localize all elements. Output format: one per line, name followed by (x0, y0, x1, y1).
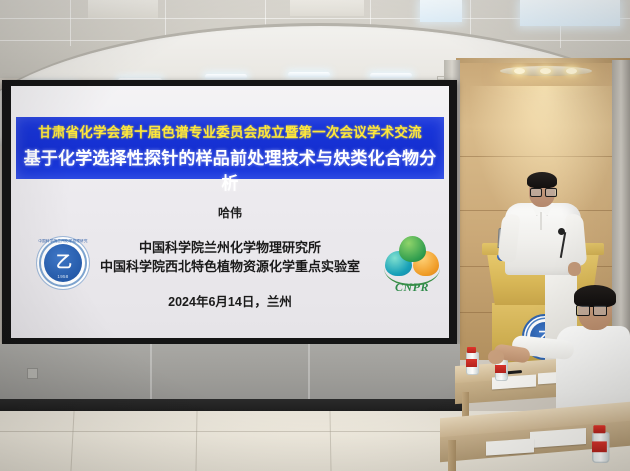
emblem-glyph: 乙 (56, 254, 72, 272)
attendee-hand (488, 350, 504, 364)
slide-title-line2: 基于化学选择性探针的样品前处理技术与炔类化合物分析 (16, 144, 444, 194)
presenter-shirt-placket (540, 212, 542, 230)
attendee-hair (574, 285, 616, 307)
slide-speaker-name: 哈伟 (11, 204, 449, 221)
emblem-year: 1958 (44, 274, 82, 279)
lower-wall-panel (0, 344, 460, 400)
presenter-hair (527, 172, 557, 188)
recessed-light-strip (500, 66, 592, 76)
cnpr-logo-text: CNPR (383, 280, 441, 295)
wall-trim (456, 58, 630, 63)
soffit-downlight (288, 72, 330, 77)
bottle-body (592, 432, 610, 463)
emblem-inner-disc: 乙 1958 (44, 244, 82, 282)
slide-title-line1: 甘肃省化学会第十届色谱专业委员会成立暨第一次会议学术交流 (16, 121, 444, 141)
wall-outlet (27, 368, 38, 379)
water-bottle (466, 352, 477, 375)
ceiling-tile (290, 0, 364, 16)
table-leg (448, 440, 456, 471)
bottle-label (495, 365, 506, 373)
ceiling-light (420, 0, 462, 22)
soffit-downlight (370, 73, 412, 78)
slide-title-band: 甘肃省化学会第十届色谱专业委员会成立暨第一次会议学术交流 基于化学选择性探针的样… (16, 117, 444, 179)
presenter-glasses-icon (530, 188, 555, 195)
presenter-hand (568, 262, 581, 276)
conference-photo-scene: 甘肃省化学会第十届色谱专业委员会成立暨第一次会议学术交流 基于化学选择性探针的样… (0, 0, 630, 471)
wall-column-right (612, 60, 630, 360)
cnpr-dome-top (399, 236, 426, 262)
bottle-cap (467, 347, 476, 353)
water-bottle (592, 432, 607, 463)
cnpr-logo-icon: CNPR (383, 234, 441, 296)
licp-institute-emblem-icon: 中国科学院兰州化学物理研究所 乙 1958 (36, 236, 90, 290)
microphone (558, 228, 565, 235)
bottle-cap (593, 425, 605, 433)
attendee-glasses-icon (576, 305, 606, 314)
bottle-body (466, 352, 479, 375)
soffit-downlight (205, 74, 247, 79)
bottle-label (592, 441, 607, 452)
bottle-label (466, 359, 477, 367)
ceiling-tile (88, 0, 158, 18)
projection-screen-frame: 甘肃省化学会第十届色谱专业委员会成立暨第一次会议学术交流 基于化学选择性探针的样… (2, 80, 457, 344)
projected-slide: 甘肃省化学会第十届色谱专业委员会成立暨第一次会议学术交流 基于化学选择性探针的样… (11, 86, 449, 338)
ceiling-light (520, 0, 620, 26)
